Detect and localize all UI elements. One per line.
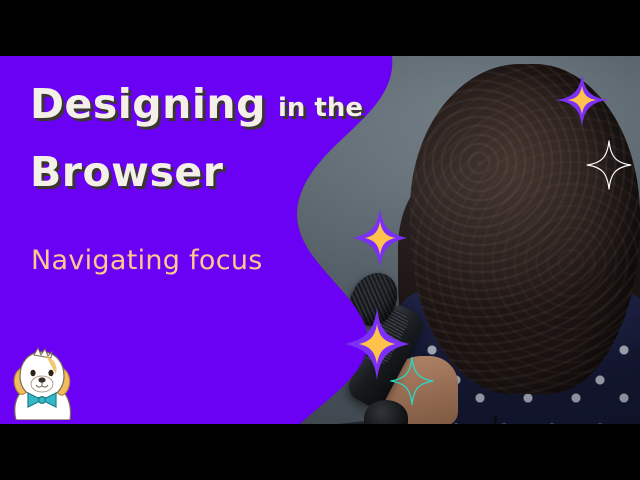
letterbox-bottom-bar — [0, 424, 640, 480]
title-line-1: Designingin the — [30, 84, 363, 125]
cartoon-dog-logo — [6, 346, 78, 420]
title-connector-words: in the — [278, 93, 363, 123]
video-thumbnail-frame: Designingin the Browser Navigating focus — [0, 0, 640, 480]
episode-subtitle: Navigating focus — [31, 245, 263, 276]
title-main-word: Designing — [30, 80, 266, 128]
thumbnail-content-stage: Designingin the Browser Navigating focus — [0, 56, 640, 424]
letterbox-top-bar — [0, 0, 640, 56]
title-line-2: Browser — [30, 152, 223, 193]
